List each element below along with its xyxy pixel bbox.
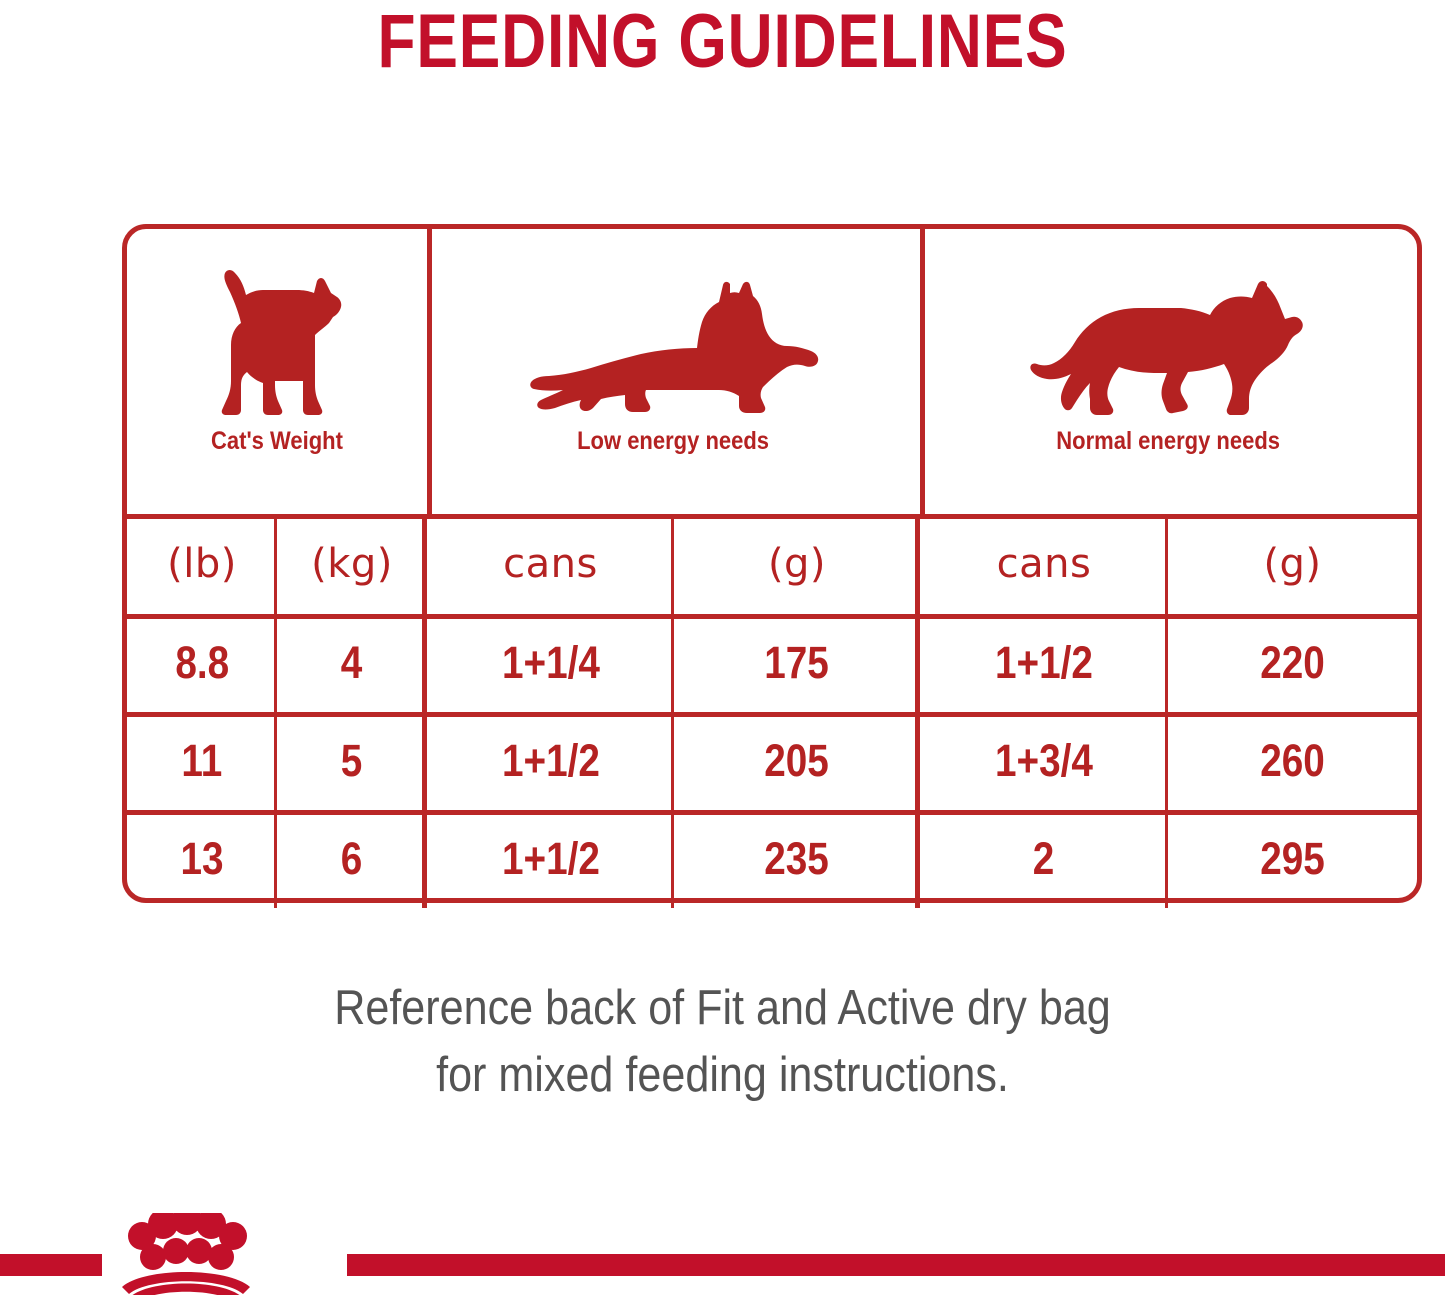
cell-norm-cans: 1+3/4 <box>920 712 1168 810</box>
cell-low-cans: 1+1/2 <box>427 810 674 908</box>
standing-cat-icon <box>199 229 355 419</box>
unit-cell-kg: (kg) <box>277 514 427 614</box>
page-title: FEEDING GUIDELINES <box>130 2 1315 82</box>
brand-bar-left-segment <box>0 1254 102 1276</box>
cell-norm-g: 260 <box>1168 712 1417 810</box>
cell-norm-g: 220 <box>1168 614 1417 712</box>
reference-note-line-2: for mixed feeding instructions. <box>87 1042 1359 1109</box>
unit-cell-low-g: (g) <box>674 514 920 614</box>
header-label-normal-energy: Normal energy needs <box>1057 427 1281 456</box>
table-header-band: Cat's Weight Low energy needs Normal ene… <box>127 229 1417 514</box>
cell-low-cans: 1+1/2 <box>427 712 674 810</box>
unit-label-low-cans: cans <box>503 541 598 587</box>
unit-cell-norm-g: (g) <box>1168 514 1417 614</box>
cell-weight-kg: 6 <box>277 810 427 908</box>
cell-norm-g: 295 <box>1168 810 1417 908</box>
unit-header-row: (lb) (kg) cans (g) cans (g) <box>127 514 1417 614</box>
cell-weight-kg: 4 <box>277 614 427 712</box>
unit-label-norm-cans: cans <box>997 541 1092 587</box>
feeding-guidelines-panel: FEEDING GUIDELINES Cat's Weight Low e <box>0 0 1445 1295</box>
header-group-low-energy: Low energy needs <box>427 229 920 514</box>
cell-weight-lb: 8.8 <box>127 614 277 712</box>
reference-note: Reference back of Fit and Active dry bag… <box>87 975 1359 1109</box>
cell-weight-lb: 13 <box>127 810 277 908</box>
unit-cell-lb: (lb) <box>127 514 277 614</box>
header-group-normal-energy: Normal energy needs <box>920 229 1417 514</box>
lying-cat-icon <box>529 229 819 419</box>
cell-weight-kg: 5 <box>277 712 427 810</box>
cell-low-g: 235 <box>674 810 920 908</box>
unit-label-lb: (lb) <box>167 541 237 587</box>
header-label-low-energy: Low energy needs <box>578 427 770 456</box>
walking-cat-icon <box>1029 229 1309 419</box>
unit-label-low-g: (g) <box>768 541 826 587</box>
unit-label-kg: (kg) <box>311 541 393 587</box>
cell-norm-cans: 2 <box>920 810 1168 908</box>
header-group-weight: Cat's Weight <box>127 229 427 514</box>
header-label-weight: Cat's Weight <box>211 427 343 456</box>
unit-label-norm-g: (g) <box>1263 541 1321 587</box>
cell-low-cans: 1+1/4 <box>427 614 674 712</box>
cell-low-g: 175 <box>674 614 920 712</box>
column-divider-1 <box>427 229 432 514</box>
reference-note-line-1: Reference back of Fit and Active dry bag <box>87 975 1359 1042</box>
brand-bar-right-segment <box>347 1254 1445 1276</box>
table-row: 11 5 1+1/2 205 1+3/4 260 <box>127 712 1417 810</box>
table-row: 8.8 4 1+1/4 175 1+1/2 220 <box>127 614 1417 712</box>
cell-weight-lb: 11 <box>127 712 277 810</box>
unit-cell-norm-cans: cans <box>920 514 1168 614</box>
cell-low-g: 205 <box>674 712 920 810</box>
column-divider-2 <box>920 229 925 514</box>
table-body: (lb) (kg) cans (g) cans (g) 8.8 4 1+1/4 … <box>127 514 1417 898</box>
feeding-table: Cat's Weight Low energy needs Normal ene… <box>122 224 1422 903</box>
cell-norm-cans: 1+1/2 <box>920 614 1168 712</box>
royal-canin-crown-logo <box>100 1213 272 1295</box>
brand-bar <box>0 1209 1445 1295</box>
table-row: 13 6 1+1/2 235 2 295 <box>127 810 1417 908</box>
unit-cell-low-cans: cans <box>427 514 674 614</box>
